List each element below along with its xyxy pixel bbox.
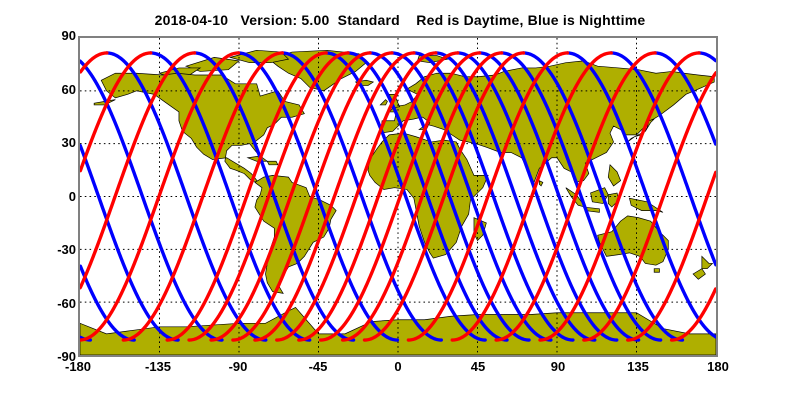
x-tick-label: 90 (518, 360, 598, 373)
y-tick-label: 30 (16, 136, 76, 149)
x-tick-label: 135 (598, 360, 678, 373)
plot-area (78, 36, 718, 357)
x-tick-label: -45 (278, 360, 358, 373)
x-tick-label: 45 (438, 360, 518, 373)
plot-canvas (80, 38, 716, 355)
x-tick-label: 180 (678, 360, 758, 373)
y-tick-label: 0 (16, 190, 76, 203)
ground-track-figure: 2018-04-10 Version: 5.00 Standard Red is… (0, 0, 800, 400)
y-tick-label: -60 (16, 297, 76, 310)
chart-title: 2018-04-10 Version: 5.00 Standard Red is… (0, 12, 800, 28)
landmass (267, 161, 278, 165)
y-tick-label: -30 (16, 243, 76, 256)
x-tick-label: 0 (358, 360, 438, 373)
landmass (654, 269, 659, 273)
x-tick-label: -180 (38, 360, 118, 373)
y-tick-label: 60 (16, 83, 76, 96)
y-tick-label: 90 (16, 29, 76, 42)
x-tick-label: -90 (198, 360, 278, 373)
x-tick-label: -135 (118, 360, 198, 373)
